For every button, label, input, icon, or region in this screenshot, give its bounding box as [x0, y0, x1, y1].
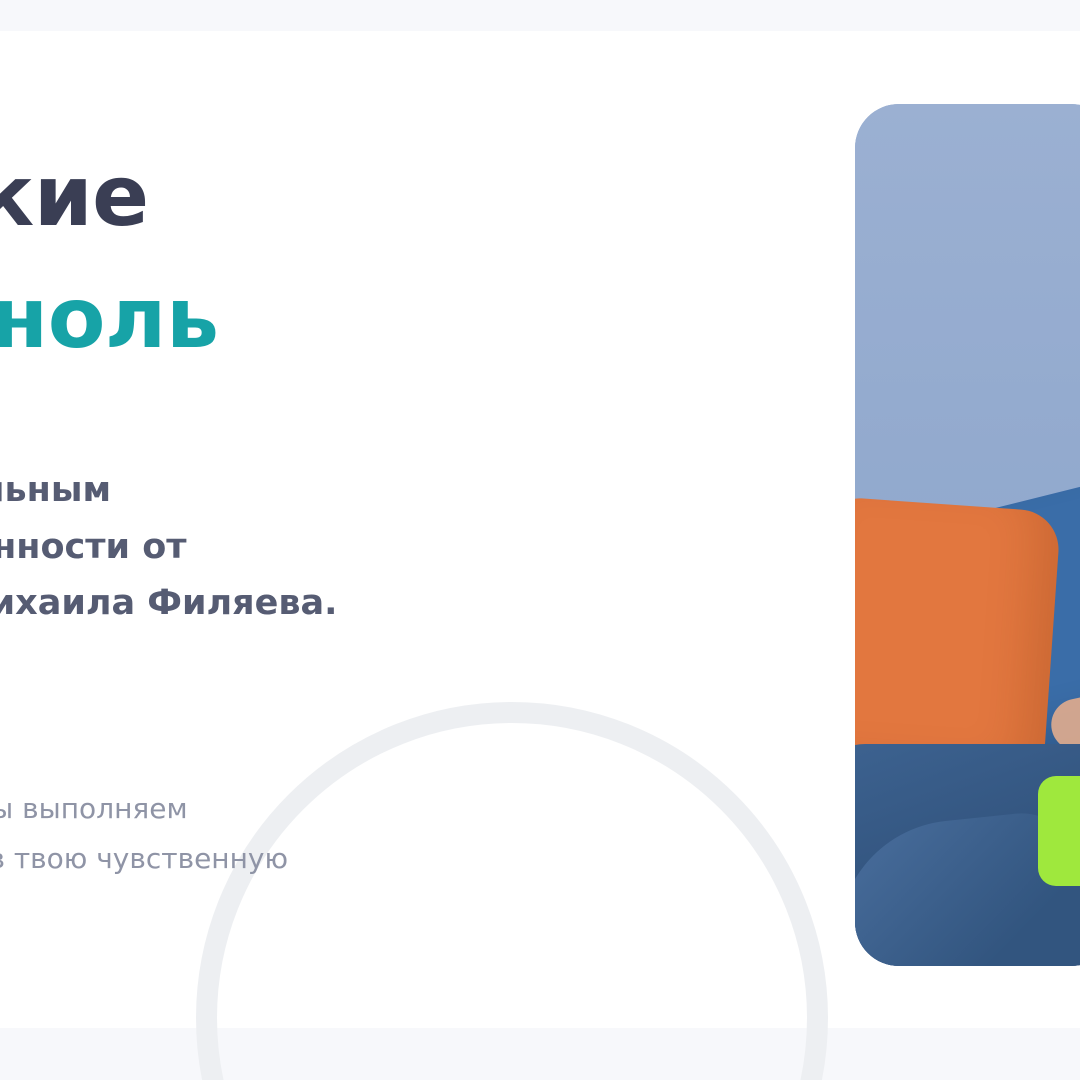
- hero-subcopy: задачу: мы выполняем ужаемся в твою чувс…: [0, 784, 790, 884]
- lede-line-2: современности от: [0, 519, 744, 576]
- hero-screenshot: неские дваноль м актуальным современност…: [0, 0, 1080, 1080]
- headline-line-1: неские: [0, 147, 149, 245]
- top-edge-band: [0, 0, 1080, 31]
- lede-line-3: аноль Михаила Филяева.: [0, 575, 744, 632]
- decorative-ring: [196, 702, 828, 1080]
- hand: [1046, 688, 1080, 755]
- orange-cushion: [855, 496, 1061, 811]
- hero-photo-card: [855, 104, 1080, 966]
- subcopy-line-2: ужаемся в твою чувственную: [0, 834, 790, 884]
- hero-headline: неские дваноль: [0, 136, 714, 380]
- headline-line-2: дваноль: [0, 258, 714, 380]
- blue-cushion: [960, 459, 1080, 760]
- lede-line-1: м актуальным: [0, 462, 744, 519]
- lime-accent-block: [1038, 776, 1080, 886]
- hero-lede: м актуальным современности от аноль Миха…: [0, 462, 744, 632]
- subcopy-line-1: задачу: мы выполняем: [0, 784, 790, 834]
- denim-seat: [855, 744, 1080, 966]
- photo-background-wall: [855, 104, 1080, 966]
- denim-knee: [855, 807, 1080, 966]
